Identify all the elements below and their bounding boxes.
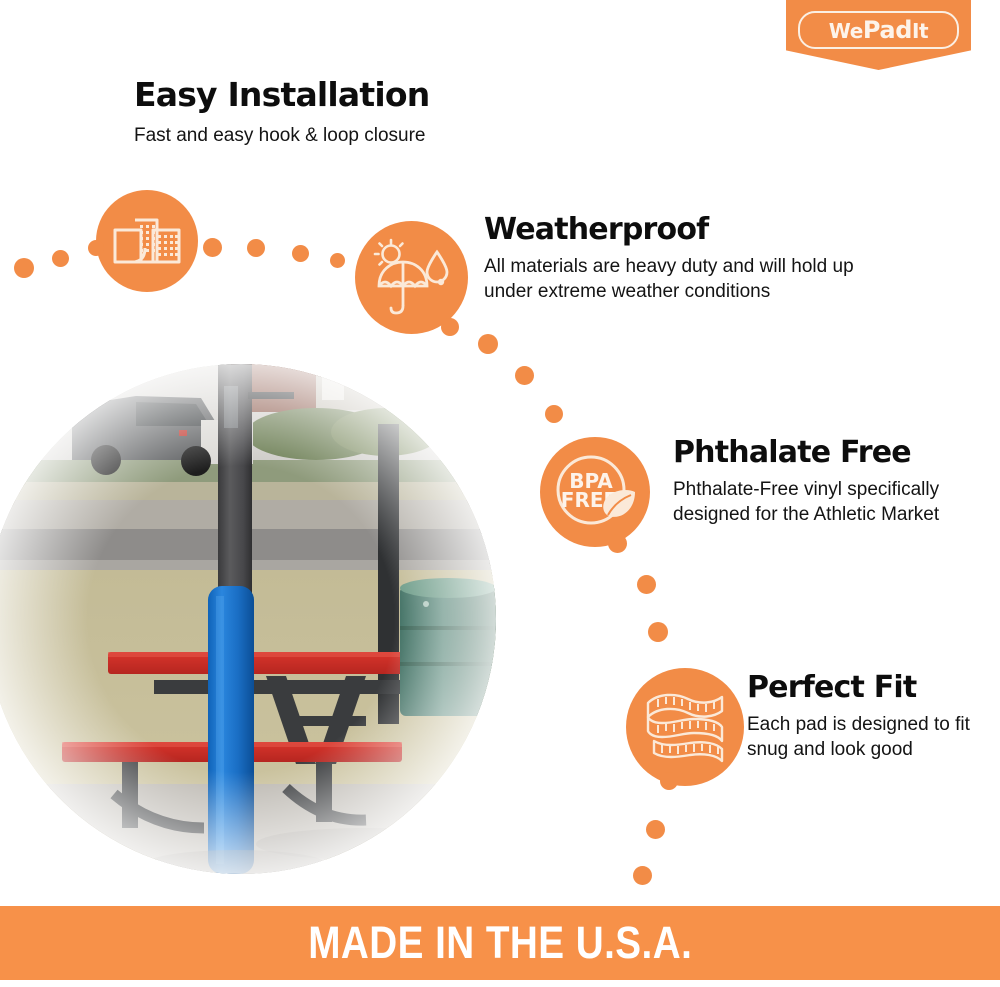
bpa-free-leaf-icon: BPA FREE — [540, 437, 650, 547]
feature-title-weatherproof: Weatherproof — [484, 214, 904, 246]
trail-dot — [292, 245, 309, 262]
logo-text-it: It — [912, 19, 928, 43]
trail-dot — [648, 622, 668, 642]
velcro-strap-icon — [96, 190, 198, 292]
feature-body-phthalate-free: Phthalate-Free vinyl specifically design… — [673, 477, 973, 527]
trail-dot — [441, 318, 459, 336]
logo-text-we: We — [829, 19, 863, 43]
trail-dot — [52, 250, 69, 267]
measuring-tape-icon — [626, 668, 744, 786]
feature-block-easy-installation: Easy Installation Fast and easy hook & l… — [134, 78, 554, 148]
trail-dot — [608, 534, 627, 553]
trail-dot — [660, 772, 678, 790]
made-in-usa-banner: MADE IN THE U.S.A. — [0, 906, 1000, 980]
umbrella-sun-rain-icon — [355, 221, 468, 334]
trail-dot — [515, 366, 534, 385]
made-in-usa-text: MADE IN THE U.S.A. — [308, 917, 692, 969]
trail-dot — [646, 820, 665, 839]
trail-dot — [545, 405, 563, 423]
trail-dot — [633, 866, 652, 885]
trail-dot — [14, 258, 34, 278]
feature-body-easy-installation: Fast and easy hook & loop closure — [134, 123, 554, 148]
feature-title-easy-installation: Easy Installation — [134, 78, 554, 113]
trail-dot — [247, 239, 265, 257]
trail-dot — [203, 238, 222, 257]
trail-dot — [637, 575, 656, 594]
feature-block-weatherproof: Weatherproof All materials are heavy dut… — [484, 214, 904, 304]
feature-block-perfect-fit: Perfect Fit Each pad is designed to fit … — [747, 672, 987, 762]
product-photo — [0, 364, 496, 874]
feature-block-phthalate-free: Phthalate Free Phthalate-Free vinyl spec… — [673, 437, 973, 527]
logo-wordmark: WePadIt — [829, 18, 928, 42]
feature-body-perfect-fit: Each pad is designed to fit snug and loo… — [747, 712, 987, 762]
logo-text-pad: Pad — [863, 16, 912, 44]
trail-dot — [88, 240, 104, 256]
feature-title-perfect-fit: Perfect Fit — [747, 672, 987, 704]
trail-dot — [478, 334, 498, 354]
logo-outline: WePadIt — [798, 11, 959, 49]
product-feature-infographic: WePadIt Easy Installation Fast and easy … — [0, 0, 1000, 987]
feature-title-phthalate-free: Phthalate Free — [673, 437, 973, 469]
brand-logo: WePadIt — [786, 0, 971, 70]
trail-dot — [330, 253, 345, 268]
feature-body-weatherproof: All materials are heavy duty and will ho… — [484, 254, 904, 304]
